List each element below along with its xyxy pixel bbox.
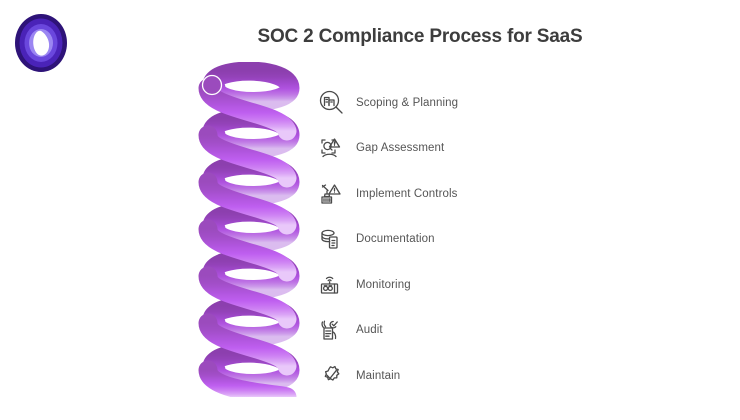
process-step[interactable]: Scoping & Planning: [316, 80, 646, 126]
crane-container-warning-icon: [316, 179, 346, 209]
process-step[interactable]: Gap Assessment: [316, 126, 646, 172]
process-step[interactable]: Documentation: [316, 217, 646, 263]
hand-checklist-icon: [316, 315, 346, 345]
process-step-label: Scoping & Planning: [356, 97, 458, 109]
play-badge-logo: [12, 12, 70, 74]
magnifier-building-icon: [316, 88, 346, 118]
signal-monitor-icon: [316, 270, 346, 300]
database-document-icon: [316, 224, 346, 254]
process-step-label: Maintain: [356, 370, 400, 382]
page-title: SOC 2 Compliance Process for SaaS: [150, 26, 690, 48]
process-step[interactable]: Monitoring: [316, 262, 646, 308]
process-step-list: Scoping & Planning Gap Assessment: [316, 80, 646, 399]
process-step[interactable]: Maintain: [316, 353, 646, 399]
gear-check-icon: [316, 361, 346, 391]
scan-frame-warning-icon: [316, 133, 346, 163]
process-step-label: Implement Controls: [356, 188, 458, 200]
process-step-label: Gap Assessment: [356, 142, 444, 154]
infographic-canvas: SOC 2 Compliance Process for SaaS: [0, 0, 740, 420]
process-step-label: Audit: [356, 324, 383, 336]
helix-coil: [186, 62, 311, 397]
process-step-label: Documentation: [356, 233, 435, 245]
process-step-label: Monitoring: [356, 279, 411, 291]
process-step[interactable]: Audit: [316, 308, 646, 354]
process-step[interactable]: Implement Controls: [316, 171, 646, 217]
